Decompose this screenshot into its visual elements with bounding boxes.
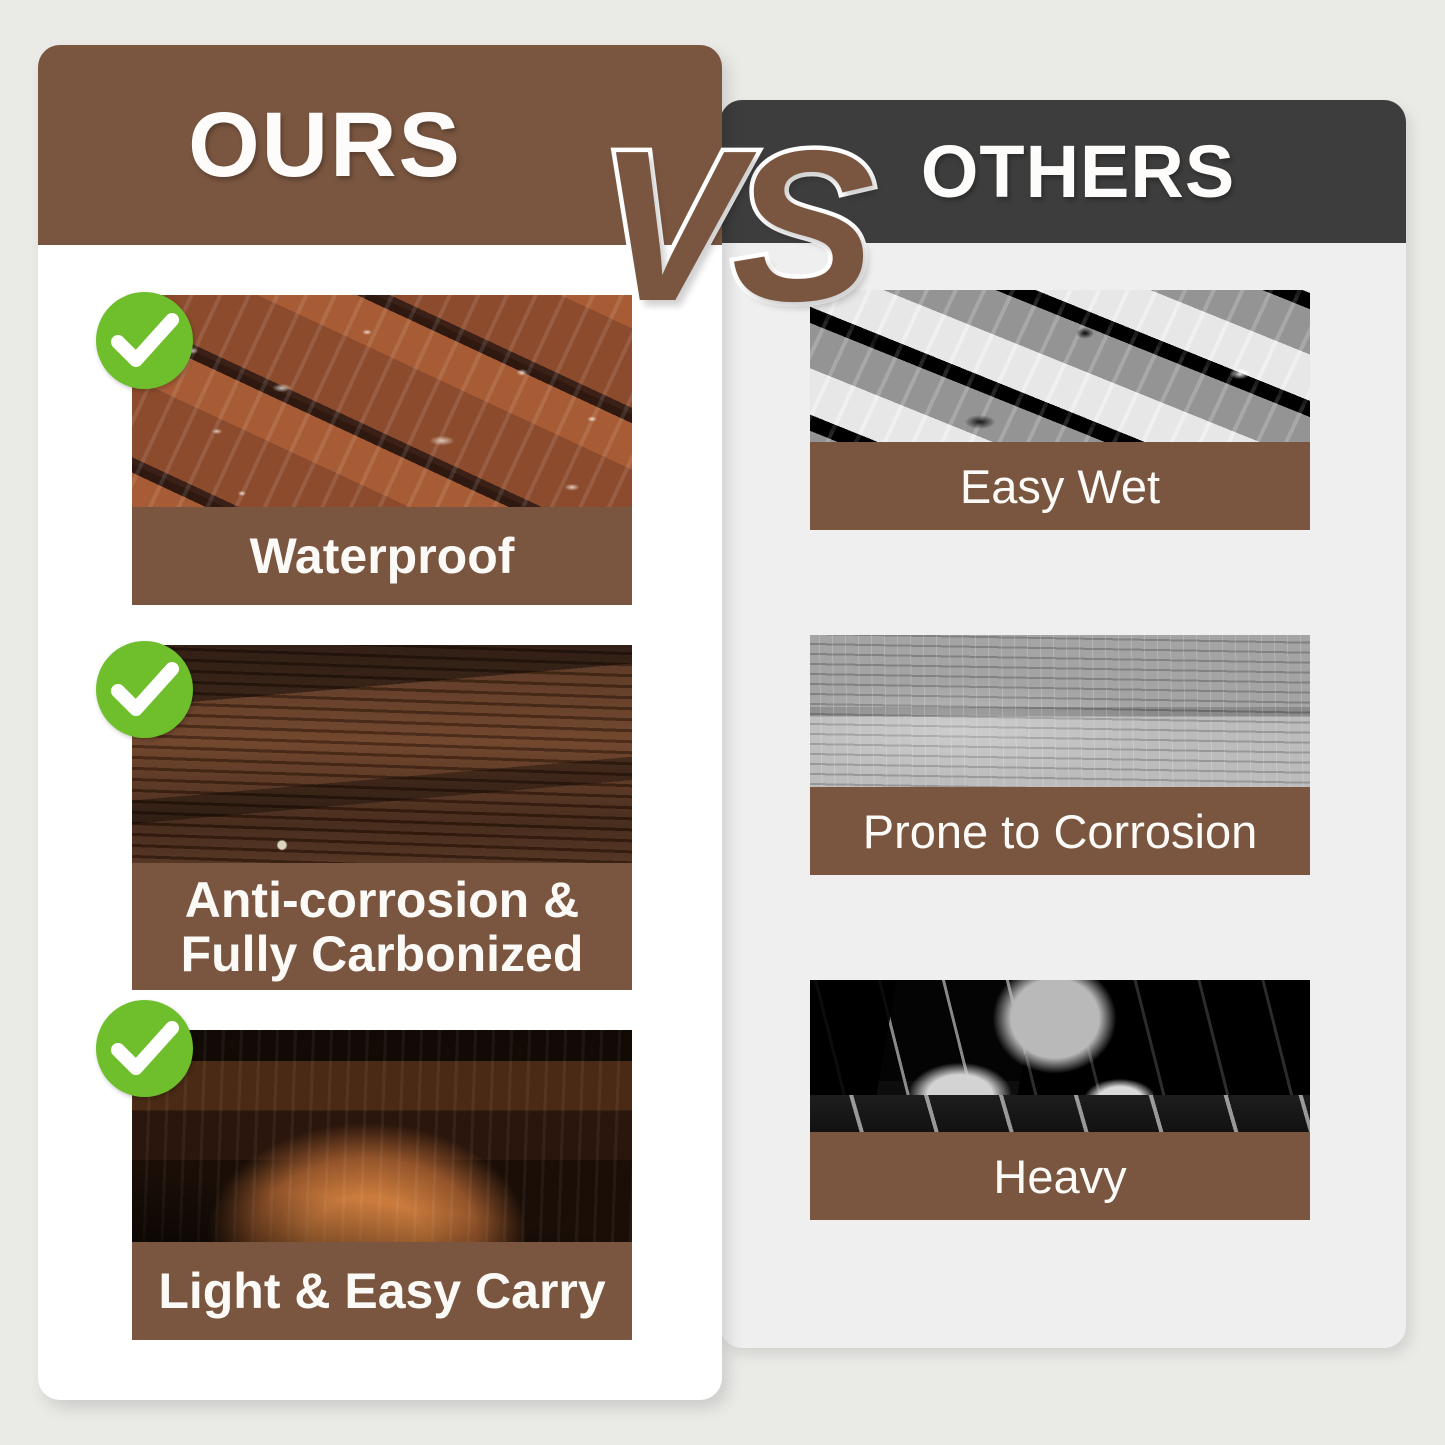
others-card-3-label: Heavy	[810, 1132, 1310, 1220]
others-card-1: Easy Wet	[810, 290, 1310, 530]
ours-card-2-label: Anti-corrosion & Fully Carbonized	[132, 863, 632, 990]
check-circle-icon	[96, 1000, 193, 1097]
others-card-2-label: Prone to Corrosion	[810, 787, 1310, 875]
ours-card-2: Anti-corrosion & Fully Carbonized	[132, 645, 632, 990]
ours-card-1-label: Waterproof	[132, 507, 632, 605]
others-title: OTHERS	[891, 129, 1235, 214]
vs-badge: VS	[598, 118, 865, 333]
ours-title: OURS	[188, 93, 572, 198]
ours-card-3: Light & Easy Carry	[132, 1030, 632, 1340]
others-card-2: Prone to Corrosion	[810, 635, 1310, 875]
comparison-infographic: OTHERS Easy Wet Prone to Corrosion Heavy…	[0, 0, 1445, 1445]
others-card-1-label: Easy Wet	[810, 442, 1310, 530]
others-card-3: Heavy	[810, 980, 1310, 1220]
ours-card-3-label: Light & Easy Carry	[132, 1242, 632, 1340]
check-circle-icon	[96, 641, 193, 738]
ours-card-1: Waterproof	[132, 295, 632, 605]
check-circle-icon	[96, 292, 193, 389]
